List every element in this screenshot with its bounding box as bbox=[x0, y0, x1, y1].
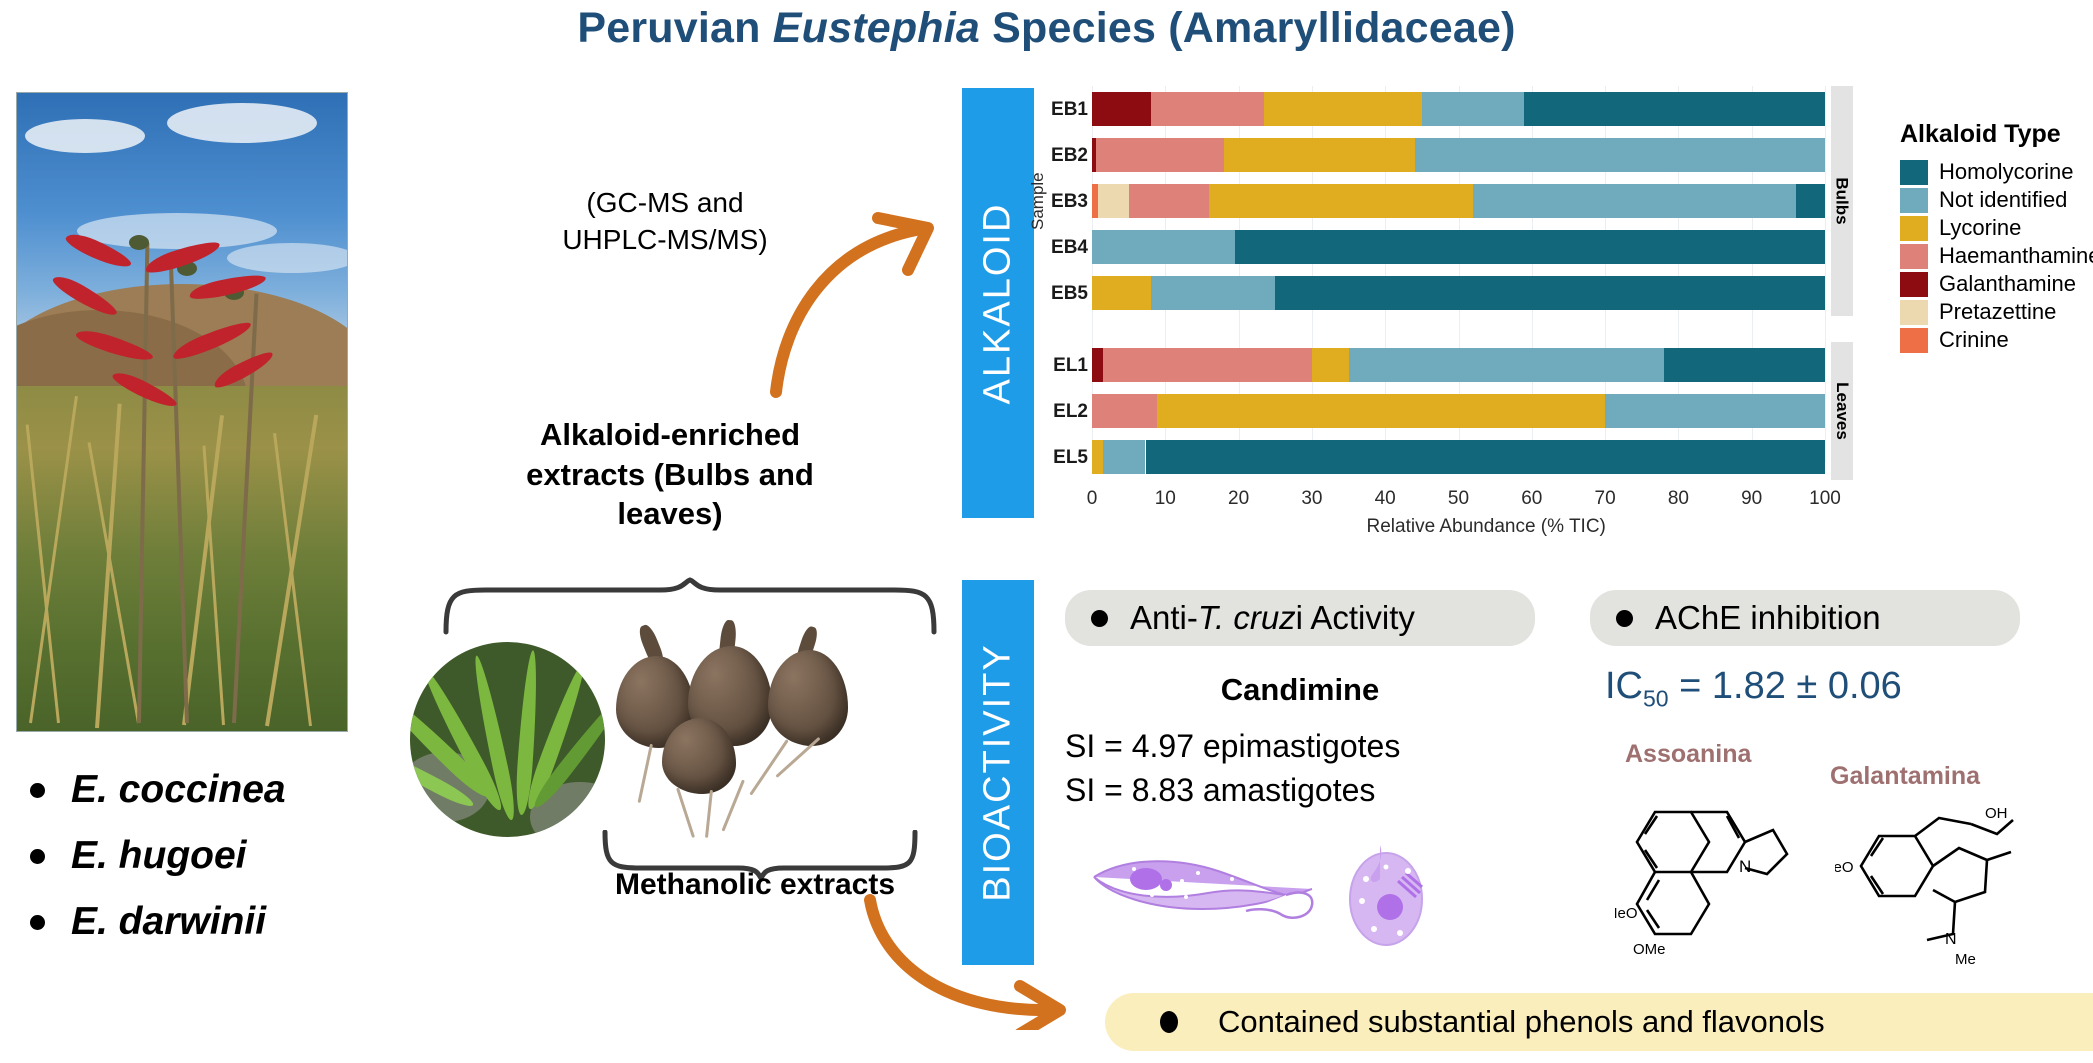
chart-bar-row bbox=[1092, 138, 1825, 172]
assoanina-structure-icon: N MeO OMe bbox=[1615, 772, 1825, 962]
chart-x-tick: 40 bbox=[1375, 488, 1396, 510]
chart-bar-segment bbox=[1092, 348, 1103, 382]
chart-bar-segment bbox=[1349, 348, 1664, 382]
chart-row-label: EL1 bbox=[1040, 355, 1088, 377]
chart-bar-row bbox=[1092, 348, 1825, 382]
chart-row-label: EB1 bbox=[1040, 99, 1088, 121]
species-name: E. darwinii bbox=[71, 900, 266, 944]
chart-bar-segment bbox=[1312, 348, 1349, 382]
chart-x-tick: 50 bbox=[1448, 488, 1469, 510]
chart-row-label: EB3 bbox=[1040, 191, 1088, 213]
alkaloid-composition-chart: Sample EB1EB2EB3EB4EB5EL1EL2EL5 01020304… bbox=[1040, 80, 2090, 520]
chart-x-tick: 60 bbox=[1521, 488, 1542, 510]
gcms-note-line2: UHPLC-MS/MS) bbox=[525, 222, 805, 259]
gcms-note-line1: (GC-MS and bbox=[525, 185, 805, 222]
chart-x-tick: 90 bbox=[1741, 488, 1762, 510]
chart-bar-segment bbox=[1275, 276, 1825, 310]
chart-row-label: EL2 bbox=[1040, 401, 1088, 423]
chart-x-axis-title: Relative Abundance (% TIC) bbox=[1367, 516, 1606, 538]
phenols-flavonols-banner: Contained substantial phenols and flavon… bbox=[1105, 993, 2093, 1051]
legend-label: Homolycorine bbox=[1939, 159, 2074, 185]
chart-bar-row bbox=[1092, 230, 1825, 264]
chart-row-label: EB5 bbox=[1040, 283, 1088, 305]
legend-item[interactable]: Galanthamine bbox=[1900, 270, 2090, 298]
chart-facet-strip: Leaves bbox=[1831, 342, 1853, 480]
ic50-number: = 1.82 ± 0.06 bbox=[1669, 665, 1902, 707]
anti-tcruzi-italic: T. cruz bbox=[1198, 599, 1296, 636]
chart-bar-segment bbox=[1605, 394, 1825, 428]
chart-bar-segment bbox=[1129, 184, 1210, 218]
chart-bar-segment bbox=[1235, 230, 1825, 264]
bullet-icon bbox=[30, 849, 45, 864]
title-post: Species (Amaryllidaceae) bbox=[980, 4, 1516, 52]
chart-bar-segment bbox=[1224, 138, 1415, 172]
photo-cloud bbox=[227, 243, 348, 273]
legend-label: Crinine bbox=[1939, 327, 2009, 353]
title-genus: Eustephia bbox=[773, 4, 980, 52]
analysis-method-note: (GC-MS and UHPLC-MS/MS) bbox=[525, 185, 805, 259]
eustephia-habitat-photo bbox=[16, 92, 348, 732]
chart-bar-row bbox=[1092, 184, 1825, 218]
si-amastigotes: SI = 8.83 amastigotes bbox=[1065, 772, 1545, 809]
photo-cloud bbox=[25, 119, 145, 153]
list-item: E. hugoei bbox=[30, 834, 430, 878]
alkaloid-extracts-label: Alkaloid-enriched extracts (Bulbs and le… bbox=[480, 415, 860, 534]
legend-item[interactable]: Not identified bbox=[1900, 186, 2090, 214]
anti-tcruzi-label: Anti-T. cruzi Activity bbox=[1130, 599, 1415, 637]
chart-bar-segment bbox=[1146, 440, 1825, 474]
page-title: Peruvian Eustephia Species (Amaryllidace… bbox=[0, 4, 2093, 53]
leaves-photo bbox=[410, 642, 605, 837]
legend-item[interactable]: Homolycorine bbox=[1900, 158, 2090, 186]
species-name: E. hugoei bbox=[71, 834, 247, 878]
chart-bar-segment bbox=[1524, 92, 1825, 126]
ic50-subscript: 50 bbox=[1643, 686, 1669, 712]
chart-facet-strip: Bulbs bbox=[1831, 86, 1853, 316]
chart-bar-segment bbox=[1096, 138, 1224, 172]
chart-x-tick: 10 bbox=[1155, 488, 1176, 510]
bulbs-photo bbox=[610, 620, 910, 845]
chart-bar-segment bbox=[1664, 348, 1825, 382]
chart-bar-segment bbox=[1092, 276, 1151, 310]
chart-bar-segment bbox=[1092, 440, 1103, 474]
bulb-root bbox=[722, 779, 745, 831]
assoanina-label: Assoanina bbox=[1625, 740, 1751, 769]
chart-row-label: EB2 bbox=[1040, 145, 1088, 167]
compound-name: Candimine bbox=[1065, 672, 1535, 708]
photo-flower-bud bbox=[129, 235, 149, 250]
chart-facet-label: Leaves bbox=[1832, 382, 1852, 440]
bullet-icon bbox=[1160, 1011, 1178, 1033]
chart-bar-segment bbox=[1264, 92, 1422, 126]
legend-swatch bbox=[1900, 328, 1928, 353]
chart-bar-row bbox=[1092, 276, 1825, 310]
chart-x-tick: 20 bbox=[1228, 488, 1249, 510]
ache-label: AChE inhibition bbox=[1655, 599, 1881, 637]
legend-swatch bbox=[1900, 216, 1928, 241]
bulb-root bbox=[705, 790, 713, 838]
legend-label: Galanthamine bbox=[1939, 271, 2076, 297]
chart-bar-segment bbox=[1796, 184, 1825, 218]
svg-text:OH: OH bbox=[1985, 805, 2008, 822]
galantamina-label: Galantamina bbox=[1830, 762, 1980, 791]
methanolic-extracts-label: Methanolic extracts bbox=[560, 868, 950, 902]
chart-bar-segment bbox=[1422, 92, 1525, 126]
svg-text:N: N bbox=[1739, 857, 1751, 876]
svg-text:MeO: MeO bbox=[1835, 859, 1854, 876]
chart-bar-segment bbox=[1092, 92, 1151, 126]
list-item: E. darwinii bbox=[30, 900, 430, 944]
chart-bar-segment bbox=[1157, 394, 1606, 428]
bioactivity-section-banner: BIOACTIVITY bbox=[962, 580, 1034, 965]
legend-swatch bbox=[1900, 188, 1928, 213]
legend-label: Lycorine bbox=[1939, 215, 2021, 241]
ic50-value: IC50 = 1.82 ± 0.06 bbox=[1605, 665, 1902, 713]
chart-bar-segment bbox=[1151, 92, 1265, 126]
chart-x-tick: 80 bbox=[1668, 488, 1689, 510]
legend-item[interactable]: Crinine bbox=[1900, 326, 2090, 354]
chart-bar-segment bbox=[1209, 184, 1473, 218]
galantamina-structure-icon: OH MeO N Me bbox=[1835, 790, 2065, 965]
legend-item[interactable]: Lycorine bbox=[1900, 214, 2090, 242]
chart-row-label: EB4 bbox=[1040, 237, 1088, 259]
photo-cloud bbox=[167, 103, 317, 143]
legend-title: Alkaloid Type bbox=[1900, 120, 2090, 149]
chart-bar-segment bbox=[1098, 184, 1129, 218]
bullet-icon bbox=[1091, 610, 1108, 627]
chart-bar-segment bbox=[1103, 440, 1146, 474]
anti-tcruzi-post: i Activity bbox=[1296, 599, 1415, 636]
chart-x-tick: 70 bbox=[1595, 488, 1616, 510]
anti-tcruzi-pre: Anti- bbox=[1130, 599, 1198, 636]
svg-text:Me: Me bbox=[1955, 951, 1976, 965]
chart-bar-segment bbox=[1092, 394, 1157, 428]
svg-text:MeO: MeO bbox=[1615, 905, 1638, 922]
chart-bar-row bbox=[1092, 440, 1825, 474]
legend-swatch bbox=[1900, 272, 1928, 297]
gridline bbox=[1825, 86, 1826, 462]
alkaloid-section-banner: ALKALOID bbox=[962, 88, 1034, 518]
chart-legend: Alkaloid Type HomolycorineNot identified… bbox=[1900, 120, 2090, 354]
chart-bar-segment bbox=[1151, 276, 1276, 310]
legend-rows: HomolycorineNot identifiedLycorineHaeman… bbox=[1900, 158, 2090, 354]
alkaloid-banner-label: ALKALOID bbox=[977, 202, 1020, 404]
anti-tcruzi-pill: Anti-T. cruzi Activity bbox=[1065, 590, 1535, 646]
legend-label: Pretazettine bbox=[1939, 299, 2056, 325]
bulb-root bbox=[638, 744, 653, 803]
chart-bar-segment bbox=[1092, 230, 1235, 264]
svg-text:OMe: OMe bbox=[1633, 941, 1666, 958]
bioactivity-banner-label: BIOACTIVITY bbox=[977, 643, 1020, 901]
ic50-prefix: IC bbox=[1605, 665, 1643, 707]
chart-bar-segment bbox=[1473, 184, 1796, 218]
legend-swatch bbox=[1900, 160, 1928, 185]
legend-label: Haemanthamine bbox=[1939, 243, 2093, 269]
bullet-icon bbox=[30, 915, 45, 930]
list-item: E. coccinea bbox=[30, 768, 430, 812]
legend-label: Not identified bbox=[1939, 187, 2067, 213]
chart-row-label: EL5 bbox=[1040, 447, 1088, 469]
bullet-icon bbox=[30, 783, 45, 798]
bulb-root bbox=[676, 788, 695, 838]
legend-item[interactable]: Pretazettine bbox=[1900, 298, 2090, 326]
chart-bar-segment bbox=[1415, 138, 1825, 172]
legend-swatch bbox=[1900, 244, 1928, 269]
title-pre: Peruvian bbox=[577, 4, 772, 52]
photo-cloud bbox=[77, 213, 277, 249]
chart-x-tick: 0 bbox=[1087, 488, 1098, 510]
chart-bar-row bbox=[1092, 394, 1825, 428]
chart-bar-row bbox=[1092, 92, 1825, 126]
chart-x-tick: 100 bbox=[1809, 488, 1841, 510]
si-epimastigotes: SI = 4.97 epimastigotes bbox=[1065, 728, 1545, 765]
species-name: E. coccinea bbox=[71, 768, 286, 812]
trypanosoma-illustration bbox=[1090, 845, 1430, 975]
bulb bbox=[768, 650, 848, 746]
chart-bar-segment bbox=[1103, 348, 1312, 382]
svg-text:N: N bbox=[1945, 931, 1957, 948]
ache-inhibition-pill: AChE inhibition bbox=[1590, 590, 2020, 646]
bullet-icon bbox=[1616, 610, 1633, 627]
phenols-flavonols-text: Contained substantial phenols and flavon… bbox=[1218, 1004, 1825, 1040]
legend-item[interactable]: Haemanthamine bbox=[1900, 242, 2090, 270]
chart-x-tick: 30 bbox=[1301, 488, 1322, 510]
legend-swatch bbox=[1900, 300, 1928, 325]
chart-facet-label: Bulbs bbox=[1832, 177, 1852, 224]
species-list: E. coccinea E. hugoei E. darwinii bbox=[30, 768, 430, 966]
